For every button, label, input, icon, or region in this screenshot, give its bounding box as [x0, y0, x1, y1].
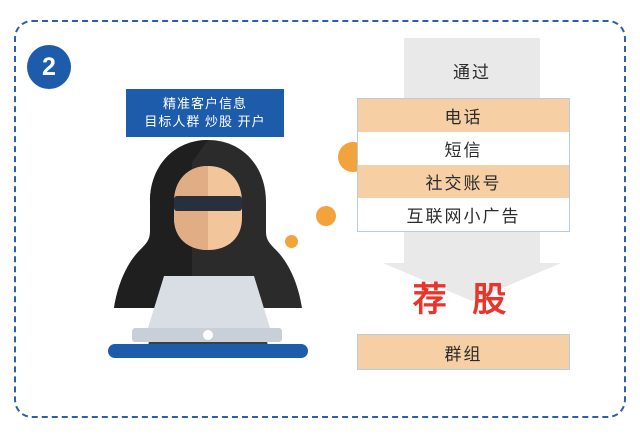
caption-line-1: 精准客户信息 — [163, 95, 247, 113]
group-box: 群组 — [357, 334, 570, 370]
list-item: 社交账号 — [358, 165, 569, 198]
sunglasses — [174, 196, 242, 211]
hooded-hacker-illustration — [92, 132, 324, 372]
laptop-screen — [148, 276, 270, 328]
caption-line-2: 目标人群 炒股 开户 — [144, 113, 265, 131]
diagram-canvas: 2 精准客户信息 目标人群 炒股 开户 通过 — [0, 0, 640, 434]
speech-dot-medium — [316, 206, 336, 226]
hacker-svg — [92, 132, 324, 372]
through-label: 通过 — [404, 58, 540, 83]
list-item: 互联网小广告 — [358, 198, 569, 231]
target-audience-caption: 精准客户信息 目标人群 炒股 开户 — [126, 89, 284, 137]
laptop-trackpad — [203, 330, 213, 340]
list-item: 短信 — [358, 132, 569, 165]
list-item: 电话 — [358, 99, 569, 132]
speech-dot-small — [285, 235, 298, 248]
desk-bar — [108, 344, 308, 358]
step-number-badge: 2 — [27, 45, 71, 89]
headline-stock-recommendation: 荐 股 — [357, 272, 570, 321]
channel-list: 电话 短信 社交账号 互联网小广告 — [357, 98, 570, 232]
